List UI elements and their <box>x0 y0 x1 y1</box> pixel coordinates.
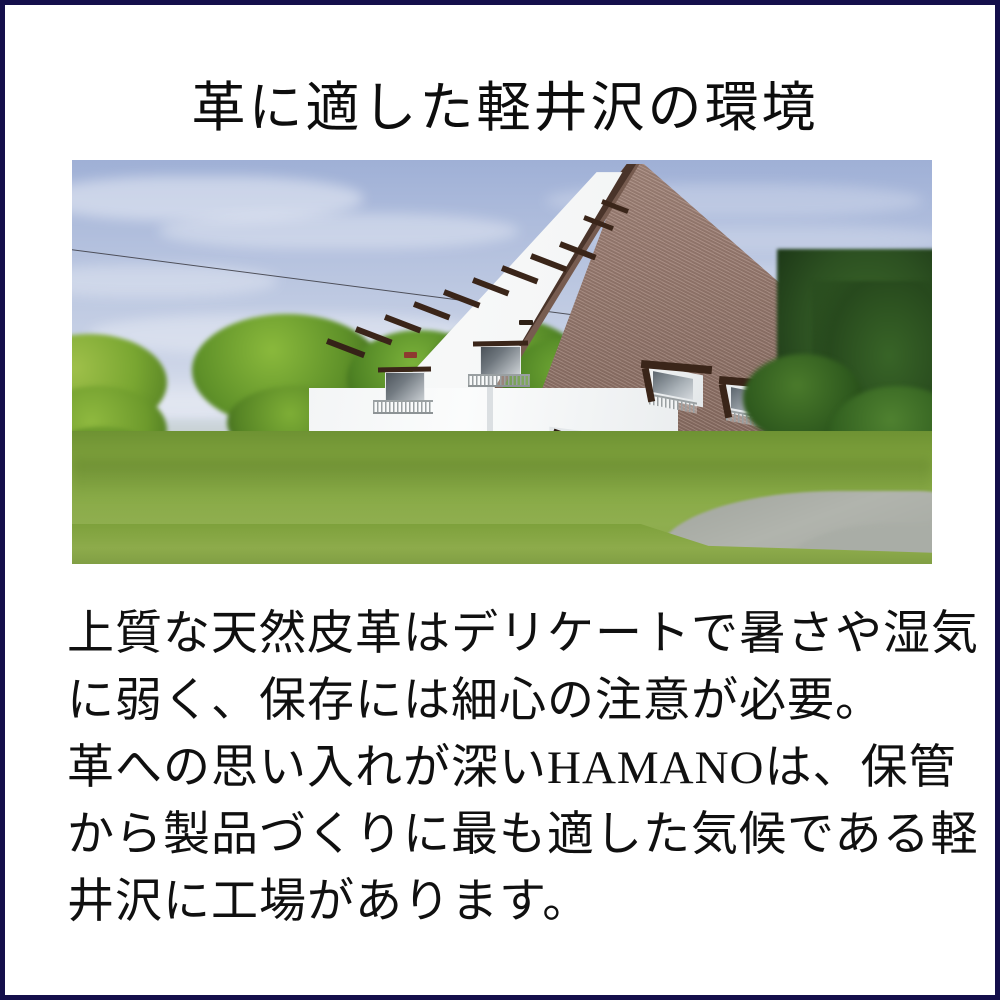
photo-scene <box>72 160 932 564</box>
cloud-icon <box>545 184 923 216</box>
tree <box>502 338 631 435</box>
body-line: に弱く、保存には細心の注意が必要。 <box>67 668 947 735</box>
cloud-icon <box>158 213 519 249</box>
page-title: 革に適した軽井沢の環境 <box>5 74 1000 142</box>
body-line: 革への思い入れが深いHAMANOは、保管 <box>67 735 947 802</box>
body-line: から製品づくりに最も適した気候である軽 <box>67 802 947 869</box>
body-line: 上質な天然皮革はデリケートで暑さや湿気 <box>67 601 947 668</box>
factory-photo <box>72 160 932 564</box>
body-paragraph: 上質な天然皮革はデリケートで暑さや湿気 に弱く、保存には細心の注意が必要。 革へ… <box>67 601 947 936</box>
body-line: 井沢に工場があります。 <box>67 869 947 936</box>
page-container: 革に適した軽井沢の環境 <box>0 0 1000 1000</box>
